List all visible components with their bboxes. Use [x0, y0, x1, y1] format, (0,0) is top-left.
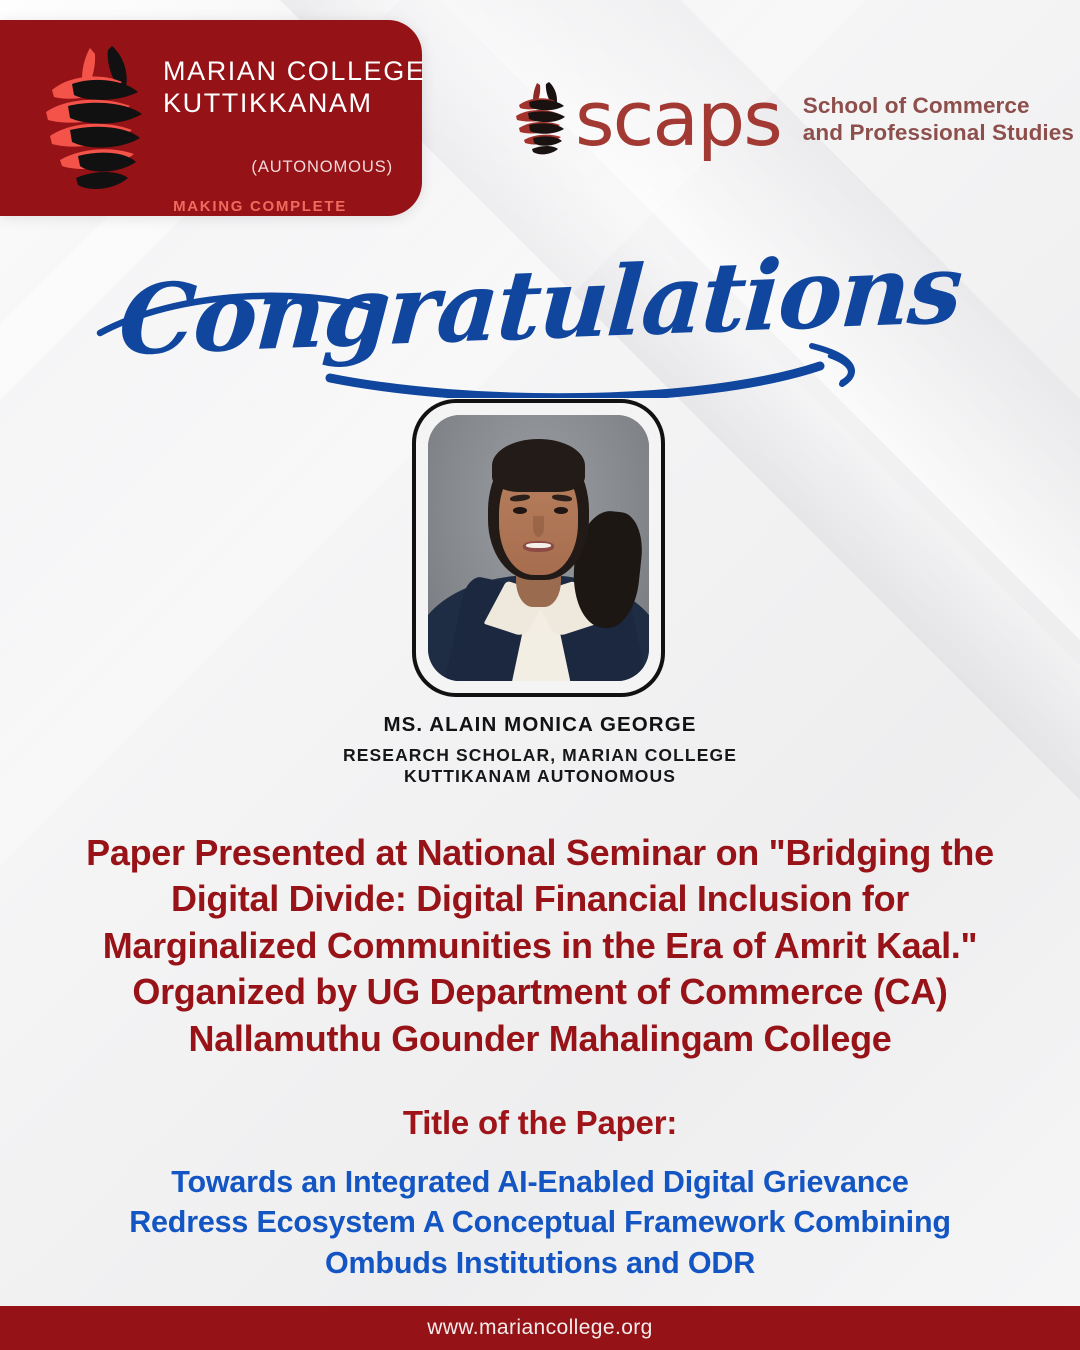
scaps-wordmark: scaps — [575, 89, 781, 148]
seminar-line-1: Paper Presented at National Seminar on "… — [40, 830, 1040, 876]
college-logo-badge: MARIAN COLLEGE KUTTIKKANAM (AUTONOMOUS) … — [0, 20, 422, 216]
paper-title-label: Title of the Paper: — [40, 1104, 1040, 1142]
photo-eye-right — [554, 507, 568, 514]
scaps-subtitle: School of Commerce and Professional Stud… — [803, 92, 1074, 147]
photo-teeth — [526, 543, 550, 548]
photo-eye-left — [513, 507, 527, 514]
presenter-role-line2: KUTTIKANAM AUTONOMOUS — [0, 766, 1080, 787]
college-tagline: MAKING COMPLETE — [120, 198, 400, 215]
college-name: MARIAN COLLEGE KUTTIKKANAM — [163, 56, 425, 119]
scaps-subtitle-line2: and Professional Studies — [803, 119, 1074, 146]
photo-hair-front — [492, 439, 585, 492]
paper-title-line-3: Ombuds Institutions and ODR — [40, 1243, 1040, 1283]
poster-canvas: MARIAN COLLEGE KUTTIKKANAM (AUTONOMOUS) … — [0, 0, 1080, 1350]
scaps-logo: scaps School of Commerce and Professiona… — [513, 76, 1074, 162]
presenter-role-line1: RESEARCH SCHOLAR, MARIAN COLLEGE — [0, 745, 1080, 766]
presenter-name: MS. ALAIN MONICA GEORGE — [0, 713, 1080, 737]
presenter-role: RESEARCH SCHOLAR, MARIAN COLLEGE KUTTIKA… — [0, 745, 1080, 788]
paper-title-text: Towards an Integrated AI-Enabled Digital… — [40, 1162, 1040, 1283]
paper-title-line-1: Towards an Integrated AI-Enabled Digital… — [40, 1162, 1040, 1202]
seminar-line-4: Organized by UG Department of Commerce (… — [40, 969, 1040, 1015]
paper-title-line-2: Redress Ecosystem A Conceptual Framework… — [40, 1202, 1040, 1242]
college-name-line2: KUTTIKKANAM — [163, 88, 425, 120]
presenter-details: MS. ALAIN MONICA GEORGE RESEARCH SCHOLAR… — [0, 713, 1080, 788]
footer-bar: www.mariancollege.org — [0, 1306, 1080, 1350]
portrait-frame — [412, 399, 665, 697]
pine-cone-icon — [38, 42, 153, 197]
congratulations-banner: Congratulations — [0, 238, 1080, 398]
seminar-line-2: Digital Divide: Digital Financial Inclus… — [40, 876, 1040, 922]
portrait-photo — [428, 415, 649, 681]
seminar-description: Paper Presented at National Seminar on "… — [40, 830, 1040, 1062]
autonomous-label: (AUTONOMOUS) — [163, 158, 393, 177]
scaps-subtitle-line1: School of Commerce — [803, 92, 1074, 119]
website-url[interactable]: www.mariancollege.org — [427, 1316, 653, 1340]
seminar-line-3: Marginalized Communities in the Era of A… — [40, 923, 1040, 969]
college-name-line1: MARIAN COLLEGE — [163, 56, 425, 88]
seminar-line-5: Nallamuthu Gounder Mahalingam College — [40, 1016, 1040, 1062]
pine-cone-icon — [513, 81, 569, 157]
paper-title-section: Title of the Paper: Towards an Integrate… — [40, 1104, 1040, 1283]
